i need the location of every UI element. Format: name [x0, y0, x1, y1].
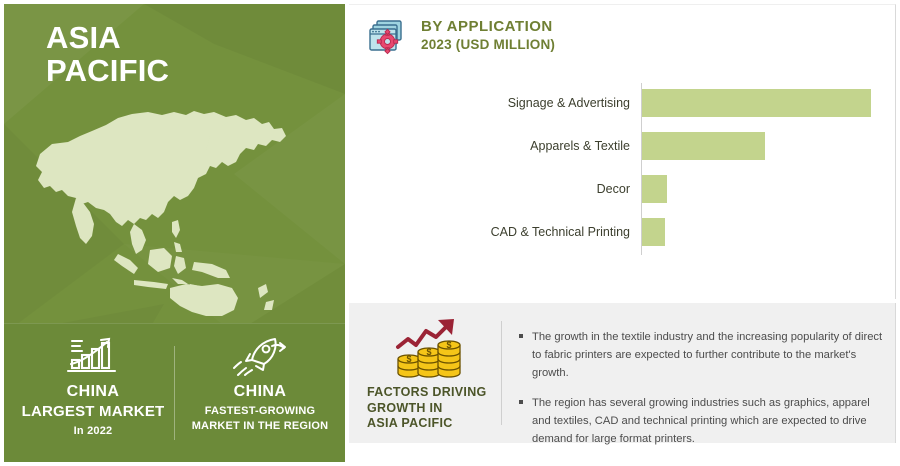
bar-label: Apparels & Textile	[349, 132, 630, 160]
factors-divider	[501, 321, 502, 425]
region-panel: ASIA PACIFIC	[4, 4, 345, 462]
stat-a-country: CHINA	[12, 382, 174, 402]
bar-row: Signage & Advertising	[349, 89, 896, 117]
infographic-root: ASIA PACIFIC	[0, 0, 900, 466]
svg-text:$: $	[426, 347, 431, 357]
stat-b-descriptor: FASTEST-GROWING MARKET IN THE REGION	[182, 404, 338, 434]
chart-card: BY APPLICATION 2023 (USD MILLION) Signag…	[349, 4, 896, 299]
windows-gear-icon	[367, 18, 407, 58]
stat-fastest-growing: CHINA FASTEST-GROWING MARKET IN THE REGI…	[182, 334, 338, 434]
stat-a-note: In 2022	[12, 425, 174, 437]
stat-a-descriptor: LARGEST MARKET	[12, 403, 174, 420]
bar-1	[642, 132, 765, 160]
chart-title: BY APPLICATION	[421, 18, 555, 35]
stats-divider	[174, 346, 175, 440]
bar-3	[642, 218, 665, 246]
factors-bullet-list: The growth in the textile industry and t…	[519, 317, 885, 459]
stat-b-descriptor-line2: MARKET IN THE REGION	[192, 420, 329, 432]
factors-caption-line1: FACTORS DRIVING	[367, 385, 487, 399]
bar-2	[642, 175, 667, 203]
bar-label: CAD & Technical Printing	[349, 218, 630, 246]
coins-growth-arrow-icon: $ $ $	[359, 317, 499, 379]
factors-bullet: The region has several growing industrie…	[519, 394, 885, 448]
factors-card: $ $ $ FACTORS DRIVING GROWTH IN ASIA PAC…	[349, 303, 896, 443]
factors-bullet: The growth in the textile industry and t…	[519, 328, 885, 382]
chart-title-block: BY APPLICATION 2023 (USD MILLION)	[421, 16, 555, 52]
region-title-line1: ASIA	[46, 20, 121, 55]
factors-caption-line2: GROWTH IN	[367, 401, 443, 415]
chart-header: BY APPLICATION 2023 (USD MILLION)	[367, 16, 555, 58]
stat-b-country: CHINA	[182, 382, 338, 402]
stats-band: CHINA LARGEST MARKET In 2022	[4, 323, 345, 462]
svg-text:$: $	[446, 340, 451, 350]
bar-0	[642, 89, 871, 117]
stat-b-descriptor-line1: FASTEST-GROWING	[205, 405, 316, 417]
bar-label: Decor	[349, 175, 630, 203]
application-bar-chart: Signage & AdvertisingApparels & TextileD…	[349, 83, 896, 263]
factors-caption-line3: ASIA PACIFIC	[367, 416, 453, 430]
bar-row: Apparels & Textile	[349, 132, 896, 160]
factors-caption: FACTORS DRIVING GROWTH IN ASIA PACIFIC	[359, 385, 499, 432]
page-title: ASIA PACIFIC	[46, 22, 169, 87]
bar-row: Decor	[349, 175, 896, 203]
svg-text:$: $	[406, 354, 411, 364]
rocket-launch-icon	[182, 334, 338, 376]
bar-label: Signage & Advertising	[349, 89, 630, 117]
bar-chart-growth-icon	[12, 334, 174, 376]
factors-icon-block: $ $ $ FACTORS DRIVING GROWTH IN ASIA PAC…	[359, 317, 499, 432]
right-column: BY APPLICATION 2023 (USD MILLION) Signag…	[349, 4, 896, 462]
chart-subtitle: 2023 (USD MILLION)	[421, 37, 555, 52]
region-title-line2: PACIFIC	[46, 55, 169, 88]
asia-pacific-map-icon	[22, 92, 332, 317]
bar-row: CAD & Technical Printing	[349, 218, 896, 246]
stat-largest-market: CHINA LARGEST MARKET In 2022	[12, 334, 174, 437]
